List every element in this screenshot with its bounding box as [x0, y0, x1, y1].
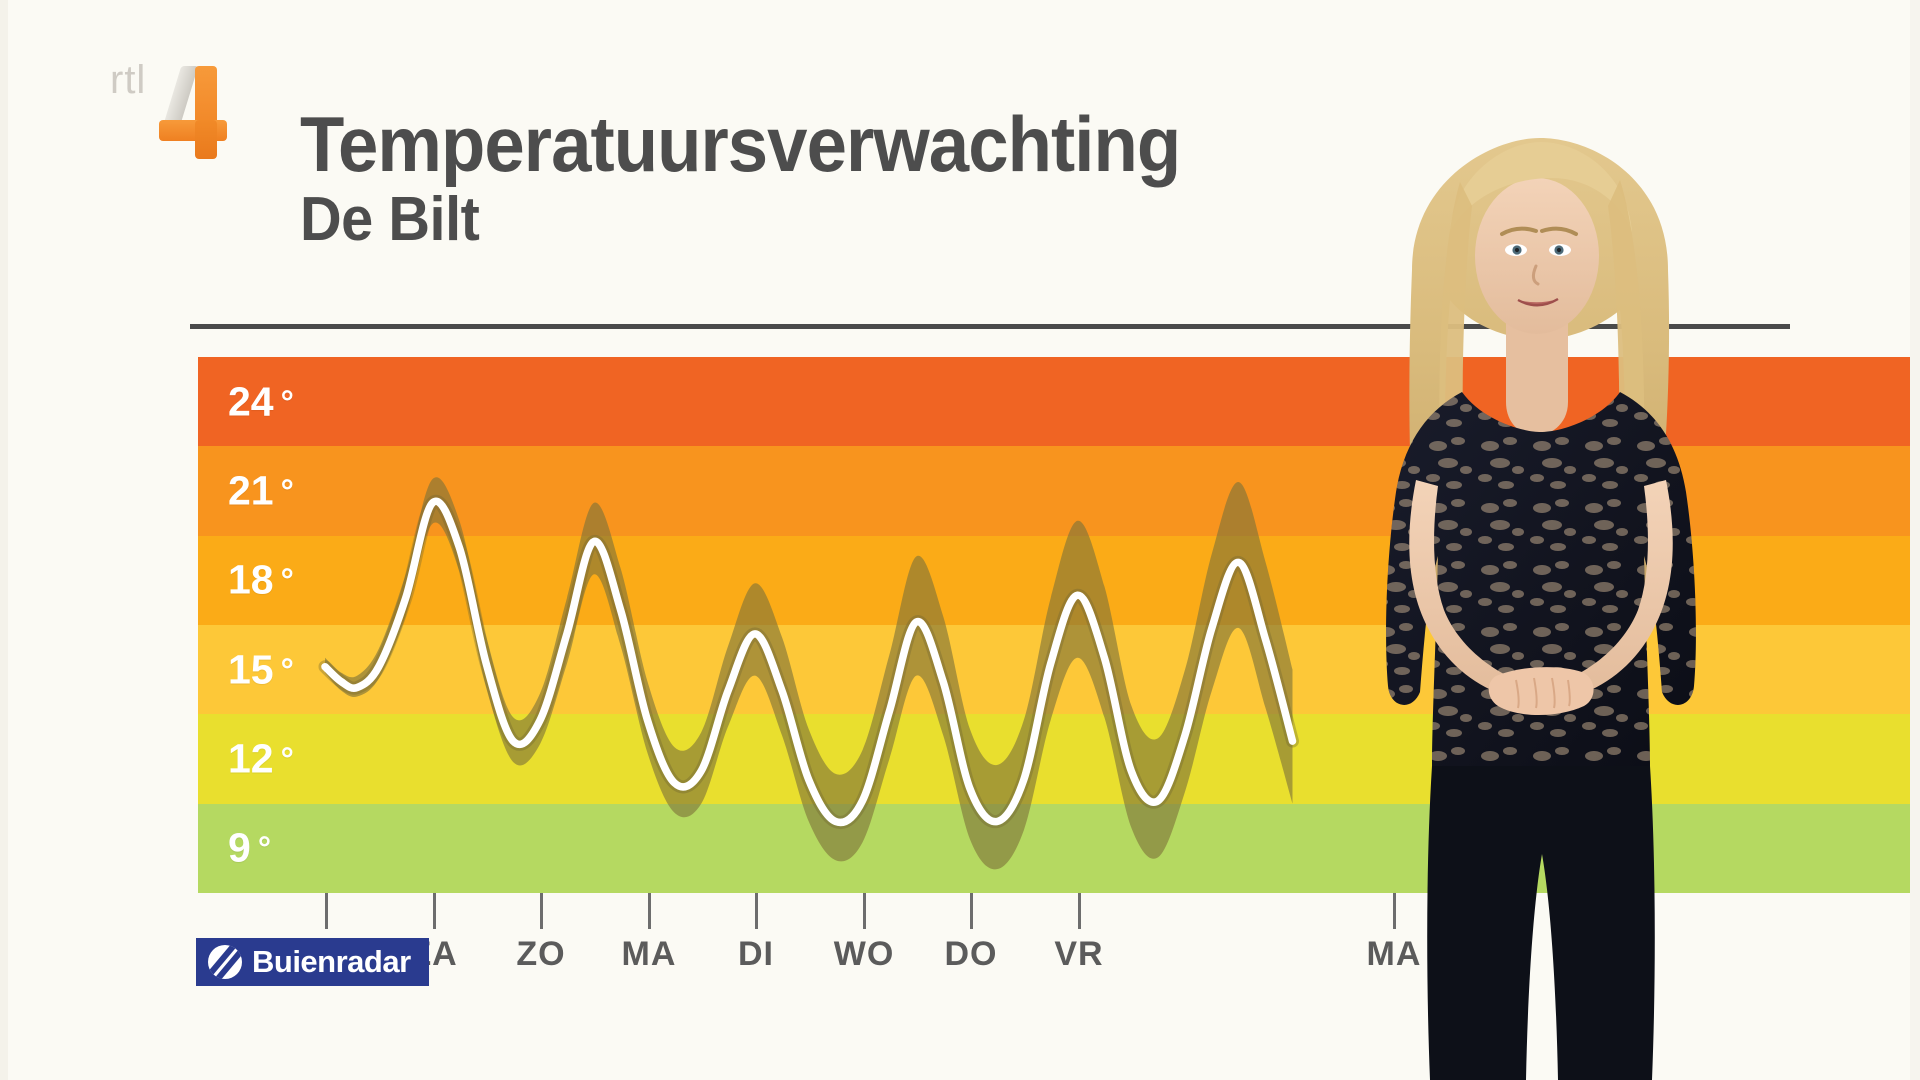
buienradar-label: Buienradar	[252, 944, 411, 980]
x-axis-tick	[1078, 893, 1081, 929]
x-axis-tick-label: DO	[945, 935, 998, 974]
hands	[1489, 667, 1594, 715]
buienradar-circle-icon	[208, 945, 242, 979]
x-axis-tick	[755, 893, 758, 929]
weather-broadcast-screen: rtl Temperatuursverwachting De Bilt 24° …	[0, 0, 1920, 1080]
right-edge	[1910, 0, 1920, 1080]
rtl-wordmark: rtl	[110, 60, 146, 100]
rtl4-logo: rtl	[110, 44, 240, 149]
rtl-four-tail-bar	[195, 120, 217, 159]
uncertainty-band-area	[325, 477, 1293, 869]
page-title-block: Temperatuursverwachting De Bilt	[300, 108, 1480, 252]
x-axis-tick	[648, 893, 651, 929]
x-axis-tick	[863, 893, 866, 929]
x-axis-tick	[970, 893, 973, 929]
x-axis-tick-label: ZO	[516, 935, 565, 974]
x-axis-tick-label: DI	[738, 935, 774, 974]
x-axis-tick-label: WO	[834, 935, 895, 974]
x-axis-tick-label: VR	[1054, 935, 1103, 974]
x-axis-tick	[433, 893, 436, 929]
x-axis-tick	[540, 893, 543, 929]
page-title: Temperatuursverwachting	[300, 108, 1397, 181]
buienradar-attribution: Buienradar	[196, 938, 429, 986]
x-axis-tick-label: MA	[622, 935, 677, 974]
page-subtitle: De Bilt	[300, 187, 1397, 252]
trousers	[1427, 766, 1655, 1080]
face	[1475, 178, 1599, 334]
left-edge	[0, 0, 8, 1080]
presenter-figure	[1320, 120, 1750, 1080]
x-axis-tick	[325, 893, 328, 929]
